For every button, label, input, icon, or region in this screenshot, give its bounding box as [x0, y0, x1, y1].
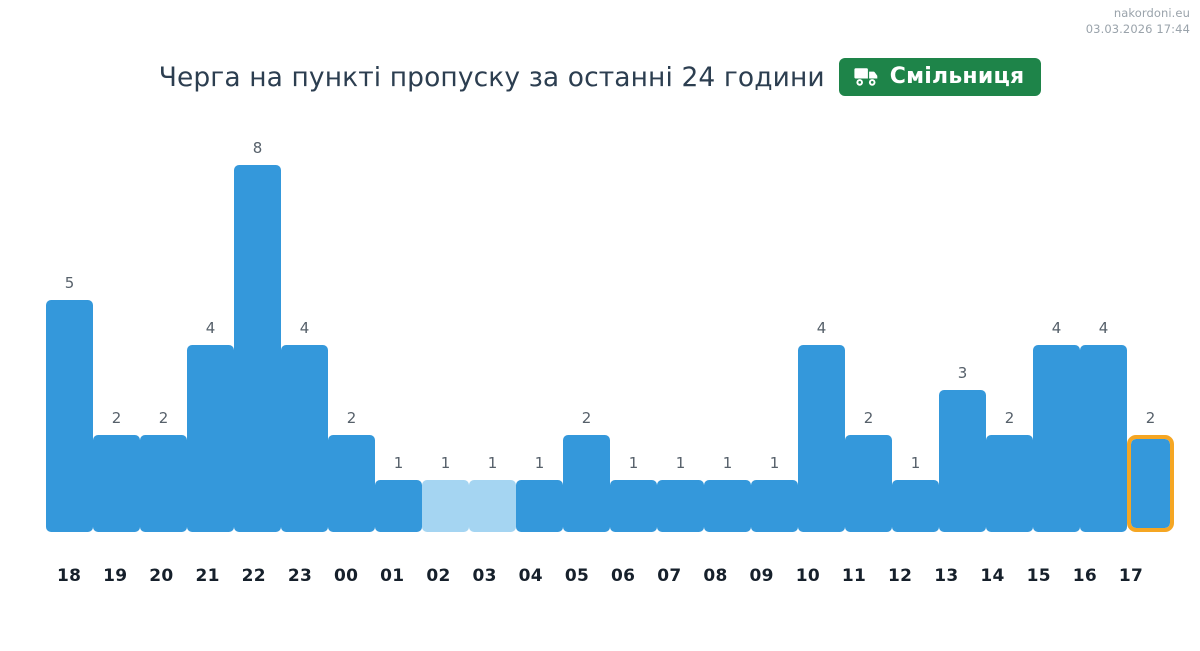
bar-slot[interactable]: 4 [1033, 120, 1080, 532]
bar[interactable] [798, 345, 845, 532]
checkpoint-badge[interactable]: Смільниця [839, 58, 1042, 96]
bar-slot[interactable]: 4 [1080, 120, 1127, 532]
bar[interactable] [281, 345, 328, 532]
bar-value-label: 1 [892, 456, 939, 471]
x-axis-tick: 11 [831, 566, 877, 586]
bar-value-label: 2 [93, 411, 140, 426]
bar[interactable] [1127, 435, 1174, 532]
bar-slot[interactable]: 1 [375, 120, 422, 532]
x-axis-tick: 07 [646, 566, 692, 586]
bar-value-label: 1 [751, 456, 798, 471]
x-axis-labels: 1819202122230001020304050607080910111213… [46, 566, 1154, 586]
bar[interactable] [187, 345, 234, 532]
bar-slot[interactable]: 4 [187, 120, 234, 532]
bar-slot[interactable]: 1 [422, 120, 469, 532]
bar[interactable] [751, 480, 798, 532]
bar-slot[interactable]: 4 [798, 120, 845, 532]
x-axis-tick: 01 [369, 566, 415, 586]
bar[interactable] [704, 480, 751, 532]
bar-value-label: 4 [1080, 321, 1127, 336]
bar[interactable] [46, 300, 93, 532]
watermark: nakordoni.eu 03.03.2026 17:44 [1086, 6, 1190, 37]
bar-slot[interactable]: 2 [845, 120, 892, 532]
x-axis-tick: 16 [1062, 566, 1108, 586]
bar-slot[interactable]: 1 [469, 120, 516, 532]
bar[interactable] [892, 480, 939, 532]
bar-value-label: 1 [610, 456, 657, 471]
bar-slot[interactable]: 1 [657, 120, 704, 532]
bar-slot[interactable]: 4 [281, 120, 328, 532]
bar-value-label: 8 [234, 141, 281, 156]
bar-value-label: 5 [46, 276, 93, 291]
bar[interactable] [469, 480, 516, 532]
x-axis-tick: 18 [46, 566, 92, 586]
bar-value-label: 4 [187, 321, 234, 336]
bar-value-label: 1 [422, 456, 469, 471]
bar-value-label: 2 [1127, 411, 1174, 426]
bar[interactable] [516, 480, 563, 532]
bar-value-label: 1 [375, 456, 422, 471]
bar-value-label: 4 [798, 321, 845, 336]
x-axis-tick: 12 [877, 566, 923, 586]
bar-slot[interactable]: 2 [93, 120, 140, 532]
bar-slot[interactable]: 2 [563, 120, 610, 532]
bar-value-label: 2 [328, 411, 375, 426]
bar-value-label: 2 [986, 411, 1033, 426]
bar[interactable] [140, 435, 187, 532]
chart-header: Черга на пункті пропуску за останні 24 г… [0, 58, 1200, 96]
bar-slot[interactable]: 2 [1127, 120, 1174, 532]
bar-slot[interactable]: 2 [328, 120, 375, 532]
bar-chart-plot: 522484211112111142132442 [46, 120, 1154, 532]
x-axis-tick: 19 [92, 566, 138, 586]
x-axis-tick: 10 [785, 566, 831, 586]
x-axis-tick: 20 [138, 566, 184, 586]
watermark-timestamp: 03.03.2026 17:44 [1086, 22, 1190, 38]
bar-value-label: 1 [516, 456, 563, 471]
bar-value-label: 4 [281, 321, 328, 336]
bar-slot[interactable]: 1 [751, 120, 798, 532]
bar-value-label: 2 [845, 411, 892, 426]
bar[interactable] [422, 480, 469, 532]
bar-slot[interactable]: 2 [986, 120, 1033, 532]
bar-slot[interactable]: 1 [516, 120, 563, 532]
x-axis-tick: 04 [508, 566, 554, 586]
bar-slot[interactable]: 1 [704, 120, 751, 532]
bar-slot[interactable]: 3 [939, 120, 986, 532]
x-axis-tick: 03 [462, 566, 508, 586]
bar[interactable] [1080, 345, 1127, 532]
bar-slot[interactable]: 1 [892, 120, 939, 532]
x-axis-tick: 17 [1108, 566, 1154, 586]
page-title: Черга на пункті пропуску за останні 24 г… [159, 62, 825, 93]
checkpoint-name: Смільниця [890, 64, 1025, 89]
bar[interactable] [563, 435, 610, 532]
x-axis-tick: 13 [923, 566, 969, 586]
bar[interactable] [657, 480, 704, 532]
bar-value-label: 2 [563, 411, 610, 426]
watermark-site: nakordoni.eu [1086, 6, 1190, 22]
bar[interactable] [986, 435, 1033, 532]
bar-slot[interactable]: 2 [140, 120, 187, 532]
x-axis-tick: 21 [185, 566, 231, 586]
bar-value-label: 4 [1033, 321, 1080, 336]
x-axis-tick: 09 [739, 566, 785, 586]
bar-value-label: 3 [939, 366, 986, 381]
x-axis-tick: 00 [323, 566, 369, 586]
x-axis-tick: 23 [277, 566, 323, 586]
bar-slot[interactable]: 5 [46, 120, 93, 532]
bar-value-label: 2 [140, 411, 187, 426]
bar[interactable] [234, 165, 281, 532]
bar-value-label: 1 [657, 456, 704, 471]
bar[interactable] [610, 480, 657, 532]
x-axis-tick: 14 [969, 566, 1015, 586]
bar-slot[interactable]: 8 [234, 120, 281, 532]
bar[interactable] [845, 435, 892, 532]
chart-page: nakordoni.eu 03.03.2026 17:44 Черга на п… [0, 0, 1200, 651]
truck-icon [854, 67, 881, 87]
bar[interactable] [328, 435, 375, 532]
bar[interactable] [1033, 345, 1080, 532]
bar[interactable] [93, 435, 140, 532]
x-axis-tick: 22 [231, 566, 277, 586]
x-axis-tick: 05 [554, 566, 600, 586]
bar-value-label: 1 [469, 456, 516, 471]
bar[interactable] [939, 390, 986, 532]
x-axis-tick: 06 [600, 566, 646, 586]
bar-value-label: 1 [704, 456, 751, 471]
bar[interactable] [375, 480, 422, 532]
x-axis-tick: 15 [1016, 566, 1062, 586]
bars-container: 522484211112111142132442 [46, 120, 1154, 532]
x-axis-tick: 08 [692, 566, 738, 586]
x-axis-tick: 02 [415, 566, 461, 586]
bar-slot[interactable]: 1 [610, 120, 657, 532]
